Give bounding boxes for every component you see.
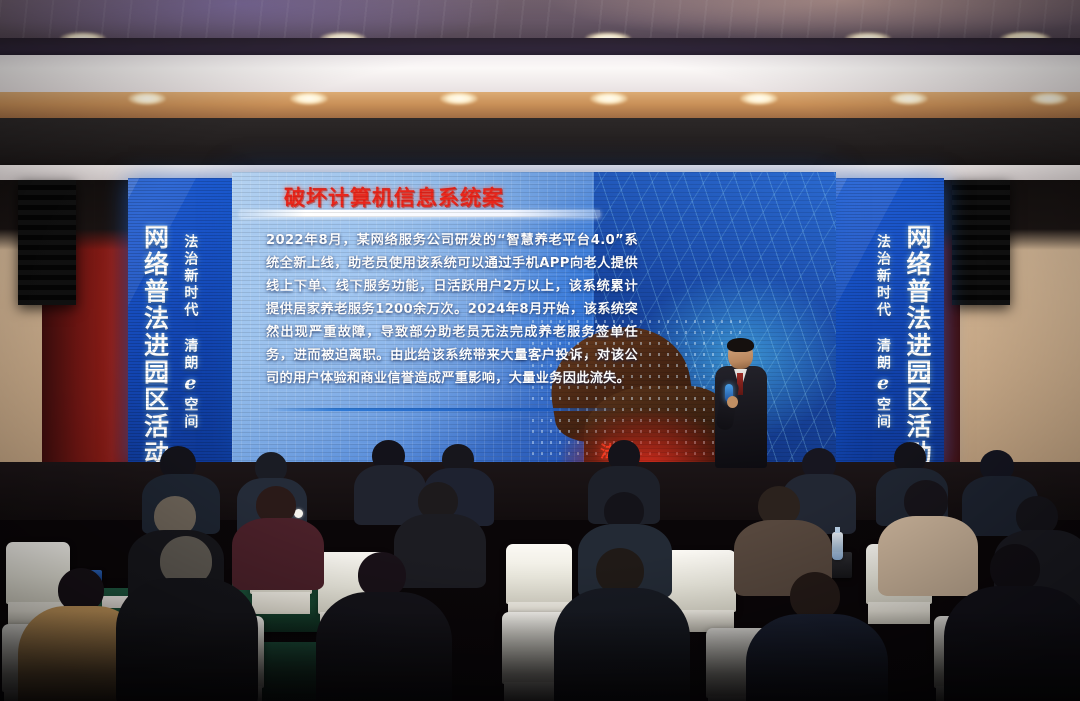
banner-left-sub-text: 法治新时代 清朗e空间 (180, 234, 199, 431)
banner-right-e-mark: e (872, 372, 894, 397)
water-bottle (832, 532, 843, 560)
presenter-hair (727, 338, 754, 352)
audience-chair (666, 550, 736, 612)
banner-right-sub-suffix: 空间 (875, 397, 891, 431)
downlight (128, 92, 166, 105)
downlight (290, 92, 328, 105)
banner-right-main-text: 网络普法进园区活动 (905, 224, 931, 467)
ceiling-recess-dark (0, 118, 1080, 166)
presenter-hand (727, 396, 738, 408)
banner-right-sub-prefix: 法治新时代 清朗 (875, 234, 891, 372)
led-banner-left: 网络普法进园区活动 法治新时代 清朗e空间 (128, 178, 232, 468)
conference-hall-photo: 网络普法进园区活动 法治新时代 清朗e空间 网络普法进园区活动 法治新时代 清朗… (0, 0, 1080, 701)
banner-left-e-mark: e (179, 372, 201, 397)
downlight (890, 92, 928, 105)
banner-left-sub-suffix: 空间 (182, 397, 198, 431)
downlight (1030, 92, 1068, 105)
pa-speaker-left (18, 180, 76, 305)
pa-speaker-right (952, 180, 1010, 305)
downlight (590, 92, 628, 105)
banner-left-sub-prefix: 法治新时代 清朗 (182, 234, 198, 372)
downlight (740, 92, 778, 105)
downlight (440, 92, 478, 105)
banner-left-main-text: 网络普法进园区活动 (142, 224, 168, 467)
ceiling-white-cove (0, 55, 1080, 93)
audience-chair (506, 544, 572, 604)
ceiling-upper-panel (0, 0, 1080, 38)
audience-area: 云云 (0, 440, 1080, 701)
banner-right-sub-text: 法治新时代 清朗e空间 (873, 234, 892, 431)
led-banner-right: 网络普法进园区活动 法治新时代 清朗e空间 (836, 178, 944, 468)
